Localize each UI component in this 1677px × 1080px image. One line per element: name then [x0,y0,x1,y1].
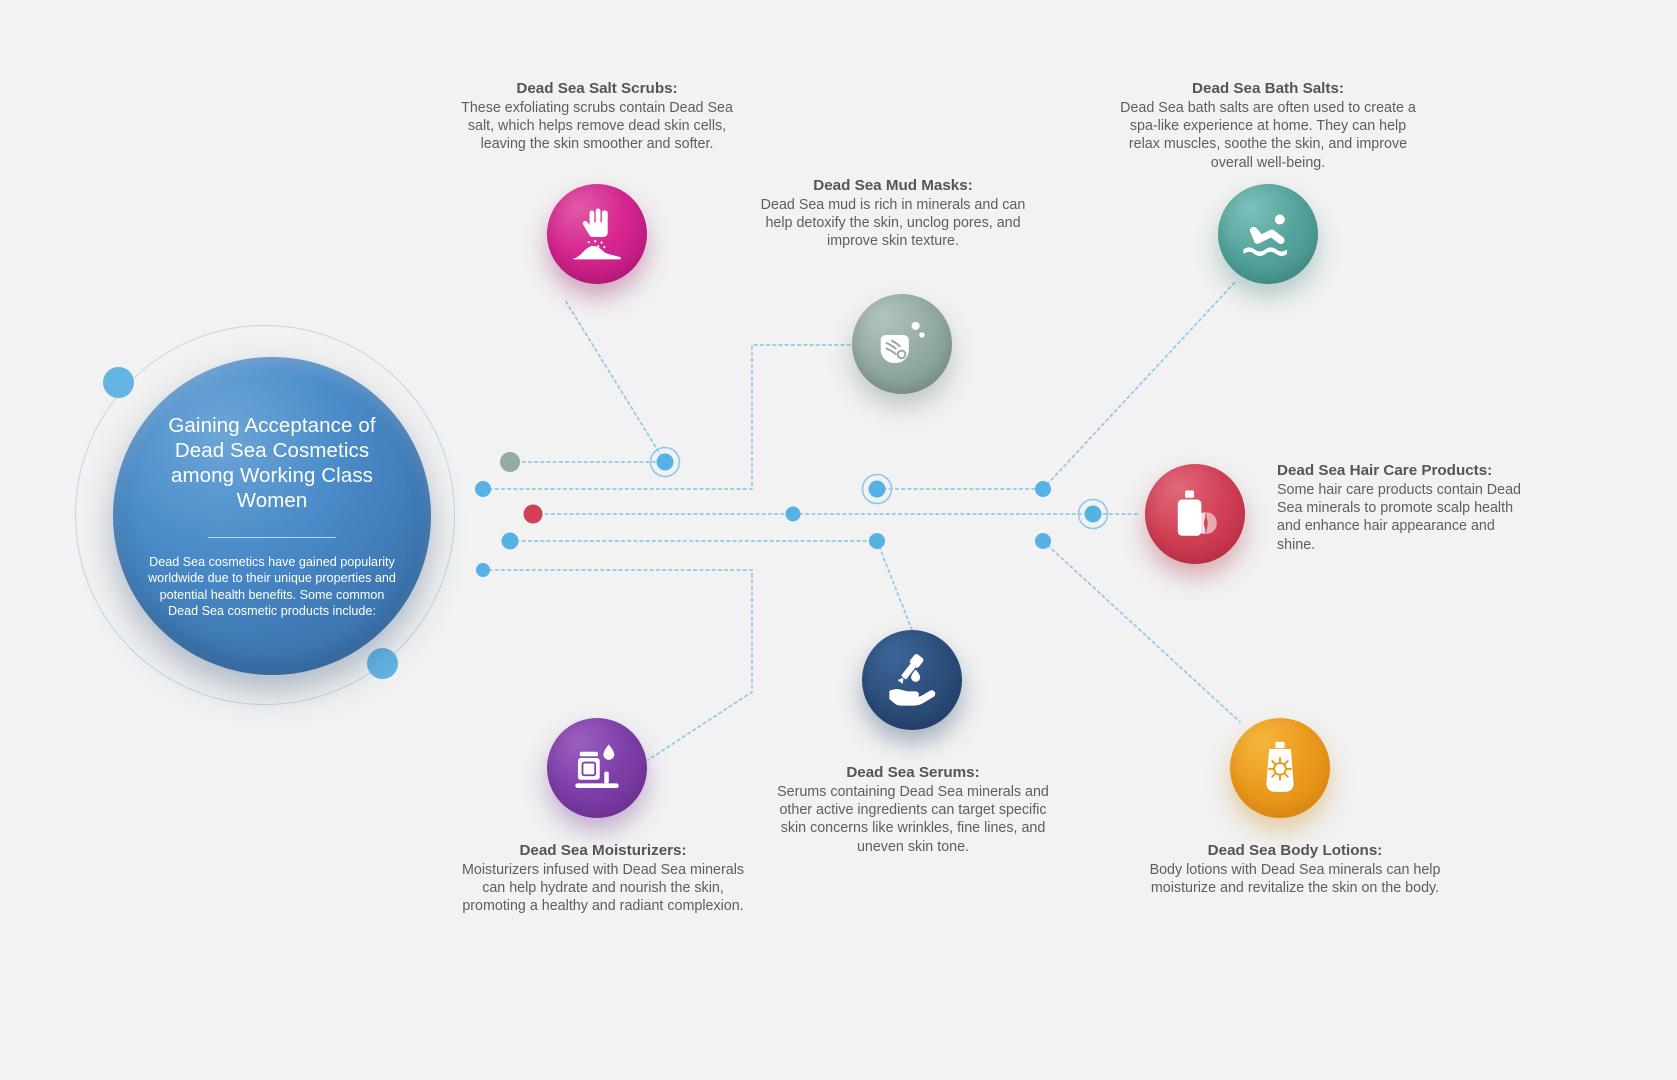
dot-bath-turn [1035,481,1051,497]
dropper-hand-icon [883,651,941,709]
dot-left-b [475,481,491,497]
hub-orb-bottom [367,648,398,679]
hub-divider [208,537,336,538]
body-body-lotions: Body lotions with Dead Sea minerals can … [1140,861,1450,897]
heading-serums: Dead Sea Serums: [768,762,1058,783]
node-bath-salts[interactable] [1218,184,1318,284]
text-block-moisturizers: Dead Sea Moisturizers: Moisturizers infu… [458,840,748,916]
dot-lotion-turn [1035,533,1051,549]
line-serum-b [877,541,912,630]
text-block-mud-masks: Dead Sea Mud Masks: Dead Sea mud is rich… [748,175,1038,251]
dot-bath-mid [869,481,886,498]
hub-title: Gaining Acceptance of Dead Sea Cosmetics… [147,413,397,513]
heading-hair-care: Dead Sea Hair Care Products: [1277,460,1535,481]
dot-moist-start [476,563,490,577]
cream-jar-droplet-icon [568,739,626,797]
heading-body-lotions: Dead Sea Body Lotions: [1140,840,1450,861]
body-serums: Serums containing Dead Sea minerals and … [768,783,1058,856]
swimmer-icon [1239,205,1297,263]
node-hair-care[interactable] [1145,464,1245,564]
body-salt-scrubs: These exfoliating scrubs contain Dead Se… [452,99,742,154]
line-bath-b [1043,280,1237,489]
body-moisturizers: Moisturizers infused with Dead Sea miner… [458,861,748,916]
body-bath-salts: Dead Sea bath salts are often used to cr… [1118,99,1418,172]
shampoo-bottle-icon [1166,485,1224,543]
heading-salt-scrubs: Dead Sea Salt Scrubs: [452,78,742,99]
dot-serum-start [502,533,519,550]
node-mud-masks[interactable] [852,294,952,394]
hub-orb-top [103,367,134,398]
dot-hair-mid [786,507,801,522]
node-body-lotions[interactable] [1230,718,1330,818]
node-serums[interactable] [862,630,962,730]
hub-circle: Gaining Acceptance of Dead Sea Cosmetics… [113,357,431,675]
dot-hair [524,505,543,524]
dot-hair-end [1085,506,1102,523]
node-salt-scrubs[interactable] [547,184,647,284]
face-mud-mask-icon [873,315,931,373]
text-block-salt-scrubs: Dead Sea Salt Scrubs: These exfoliating … [452,78,742,154]
text-block-serums: Dead Sea Serums: Serums containing Dead … [768,762,1058,856]
dot-mud [500,452,520,472]
hub-body: Dead Sea cosmetics have gained popularit… [147,554,397,620]
central-hub: Gaining Acceptance of Dead Sea Cosmetics… [75,325,475,725]
heading-bath-salts: Dead Sea Bath Salts: [1118,78,1418,99]
infographic-canvas: Gaining Acceptance of Dead Sea Cosmetics… [0,0,1677,1080]
heading-moisturizers: Dead Sea Moisturizers: [458,840,748,861]
text-block-body-lotions: Dead Sea Body Lotions: Body lotions with… [1140,840,1450,897]
text-block-bath-salts: Dead Sea Bath Salts: Dead Sea bath salts… [1118,78,1418,172]
connector-dot-group [475,448,1108,578]
body-mud-masks: Dead Sea mud is rich in minerals and can… [748,196,1038,251]
node-moisturizers[interactable] [547,718,647,818]
lotion-tube-icon [1251,739,1309,797]
line-lotion [1043,541,1240,722]
body-hair-care: Some hair care products contain Dead Sea… [1277,481,1535,554]
dot-serum-turn [869,533,885,549]
dot-scrub [657,454,674,471]
line-scrub-b [565,300,665,462]
heading-mud-masks: Dead Sea Mud Masks: [748,175,1038,196]
text-block-hair-care: Dead Sea Hair Care Products: Some hair c… [1277,460,1535,554]
hand-sprinkling-salt-icon [568,205,626,263]
